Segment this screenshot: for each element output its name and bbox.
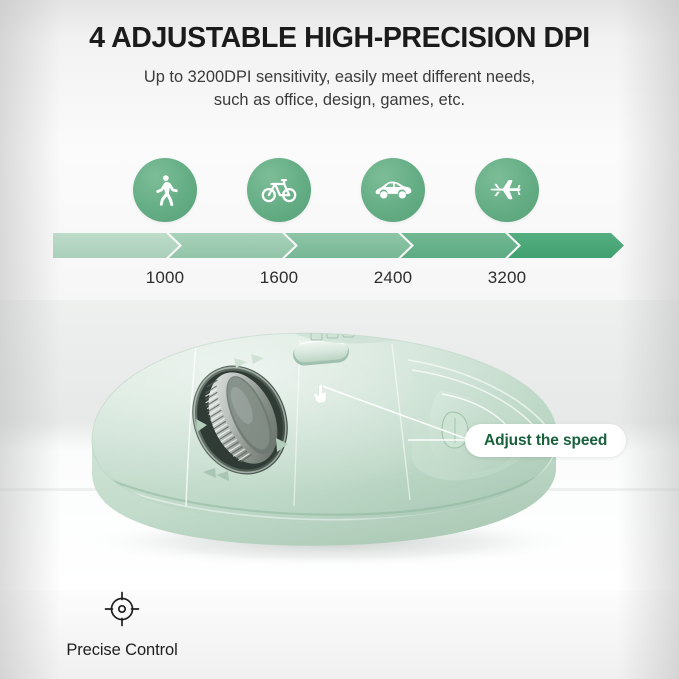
footer-label: Precise Control [22, 641, 222, 660]
walking-person-icon [148, 173, 182, 207]
car-icon [374, 171, 412, 209]
footer-feature: Precise Control [22, 588, 222, 660]
dpi-icon-car [361, 158, 425, 222]
callout-adjust-speed: Adjust the speed [465, 424, 626, 457]
dpi-label-2400: 2400 [348, 268, 438, 288]
dpi-value-labels: 1000 1600 2400 3200 [0, 268, 679, 292]
promo-banner: 4 ADJUSTABLE HIGH-PRECISION DPI Up to 32… [0, 0, 679, 679]
header: 4 ADJUSTABLE HIGH-PRECISION DPI Up to 32… [0, 22, 679, 113]
subtitle-line-2: such as office, design, games, etc. [0, 89, 679, 112]
subtitle-line-1: Up to 3200DPI sensitivity, easily meet d… [0, 66, 679, 89]
page-title: 4 ADJUSTABLE HIGH-PRECISION DPI [0, 22, 679, 55]
dpi-arrow-bar [53, 232, 626, 259]
bicycle-icon [261, 172, 297, 208]
dpi-icon-bicycle [247, 158, 311, 222]
airplane-icon [488, 171, 526, 209]
dpi-label-1600: 1600 [234, 268, 324, 288]
subtitle: Up to 3200DPI sensitivity, easily meet d… [0, 66, 679, 113]
dpi-icon-row [0, 158, 679, 224]
dpi-icon-airplane [475, 158, 539, 222]
crosshair-target-icon [22, 588, 222, 630]
dpi-label-3200: 3200 [462, 268, 552, 288]
dpi-icon-walking [133, 158, 197, 222]
dpi-label-1000: 1000 [120, 268, 210, 288]
